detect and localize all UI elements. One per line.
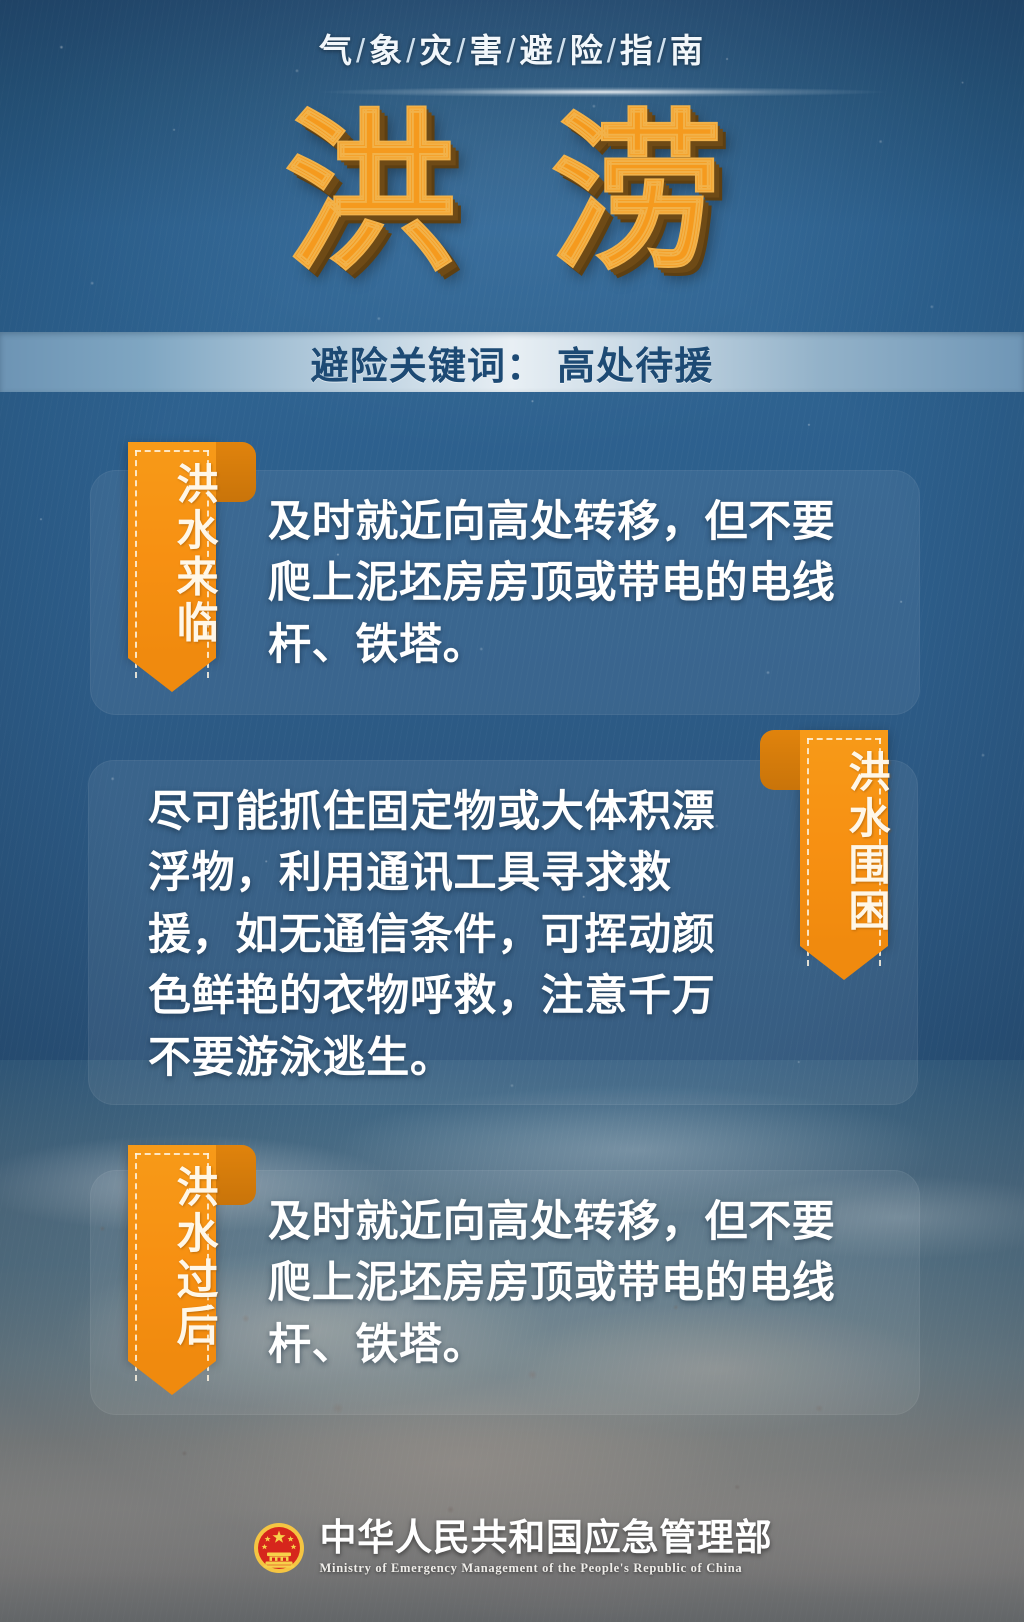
kicker-char-7: 南: [670, 32, 705, 69]
ribbon-2: 洪水围困: [800, 730, 888, 946]
advice-body-2: 尽可能抓住固定物或大体积漂浮物，利用通讯工具寻求救援，如无通信条件，可挥动颜色鲜…: [148, 782, 740, 1089]
kicker-sep-3: /: [504, 32, 519, 69]
ribbon-3: 洪水过后: [128, 1145, 216, 1361]
ribbon-fold-2: [760, 730, 800, 790]
kicker-char-2: 灾: [419, 32, 454, 69]
ribbon-dash-top-3: [135, 1153, 209, 1155]
keyword-banner: 避险关键词： 高处待援: [0, 332, 1024, 392]
kicker-sep-6: /: [655, 32, 670, 69]
national-emblem-icon: [252, 1521, 306, 1575]
kicker-sep-1: /: [404, 32, 419, 69]
ribbon-fold-3: [216, 1145, 256, 1205]
kicker-char-6: 指: [620, 32, 655, 69]
ministry-text: 中华人民共和国应急管理部 Ministry of Emergency Manag…: [320, 1519, 773, 1576]
kicker-char-4: 避: [520, 32, 555, 69]
ribbon-label-2: 洪水围困: [800, 750, 888, 935]
keyword-banner-text: 避险关键词： 高处待援: [310, 335, 713, 390]
ministry-name-cn: 中华人民共和国应急管理部: [320, 1519, 773, 1558]
ribbon-dash-top-2: [807, 738, 881, 740]
ribbon-1: 洪水来临: [128, 442, 216, 658]
kicker-char-3: 害: [469, 32, 504, 69]
kicker-sep-5: /: [605, 32, 620, 69]
footer: 中华人民共和国应急管理部 Ministry of Emergency Manag…: [0, 1519, 1024, 1576]
kicker-sep-0: /: [354, 32, 369, 69]
kicker-heading: 气/象/灾/害/避/险/指/南: [0, 24, 1024, 72]
ribbon-dash-top-1: [135, 450, 209, 452]
advice-body-1: 及时就近向高处转移，但不要爬上泥坯房房顶或带电的电线杆、铁塔。: [268, 492, 860, 676]
kicker-char-0: 气: [319, 32, 354, 69]
ribbon-label-1: 洪水来临: [128, 462, 216, 647]
ribbon-label-3: 洪水过后: [128, 1165, 216, 1350]
kicker-char-5: 险: [570, 32, 605, 69]
page-title: 洪 涝: [0, 108, 1024, 280]
kicker-sep-4: /: [555, 32, 570, 69]
kicker-sep-2: /: [454, 32, 469, 69]
flood-safety-poster: 气/象/灾/害/避/险/指/南 洪 涝 避险关键词： 高处待援 洪水来临 及时就…: [0, 0, 1024, 1622]
kicker-char-1: 象: [369, 32, 404, 69]
ribbon-fold-1: [216, 442, 256, 502]
page-title-text: 洪 涝: [284, 108, 739, 280]
advice-body-3: 及时就近向高处转移，但不要爬上泥坯房房顶或带电的电线杆、铁塔。: [268, 1192, 860, 1376]
ministry-name-en: Ministry of Emergency Management of the …: [320, 1561, 773, 1576]
